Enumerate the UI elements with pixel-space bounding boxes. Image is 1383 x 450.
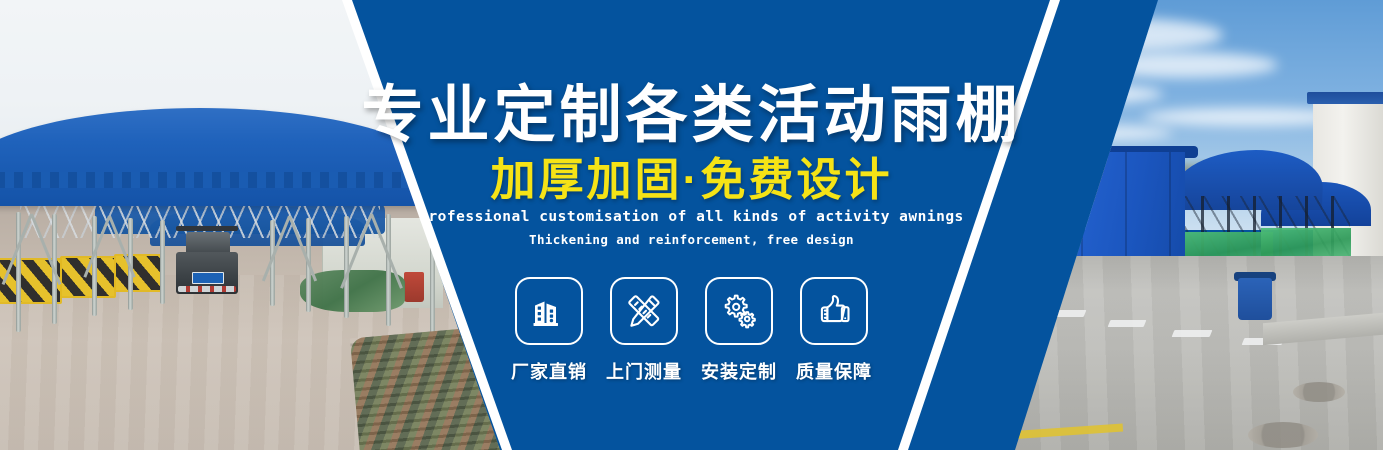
ruler-pencil-icon — [625, 292, 663, 330]
subheadline: 加厚加固·免费设计 — [0, 143, 1383, 208]
feature-item-quality-guarantee[interactable]: 质量保障 — [800, 277, 868, 384]
gears-icon — [720, 292, 758, 330]
center-content: 专业定制各类活动雨棚 加厚加固·免费设计 Professional custom… — [0, 0, 1383, 450]
feature-label: 质量保障 — [796, 358, 872, 384]
feature-label: 厂家直销 — [511, 358, 587, 384]
english-tagline-primary: Professional customisation of all kinds … — [0, 209, 1383, 225]
feature-icon-box — [800, 277, 868, 345]
feature-item-installation-customization[interactable]: 安装定制 — [705, 277, 773, 384]
feature-list: 厂家直销 — [0, 277, 1383, 384]
building-icon — [531, 293, 567, 329]
feature-item-on-site-measuring[interactable]: 上门测量 — [610, 277, 678, 384]
feature-icon-box — [610, 277, 678, 345]
feature-label: 安装定制 — [701, 358, 777, 384]
feature-icon-box — [705, 277, 773, 345]
english-tagline-secondary: Thickening and reinforcement, free desig… — [0, 232, 1383, 247]
headline: 专业定制各类活动雨棚 — [0, 64, 1383, 154]
feature-item-factory-direct[interactable]: 厂家直销 — [515, 277, 583, 384]
feature-icon-box — [515, 277, 583, 345]
thumbs-up-icon — [815, 292, 853, 330]
promo-banner: 专业定制各类活动雨棚 加厚加固·免费设计 Professional custom… — [0, 0, 1383, 450]
feature-label: 上门测量 — [606, 358, 682, 384]
